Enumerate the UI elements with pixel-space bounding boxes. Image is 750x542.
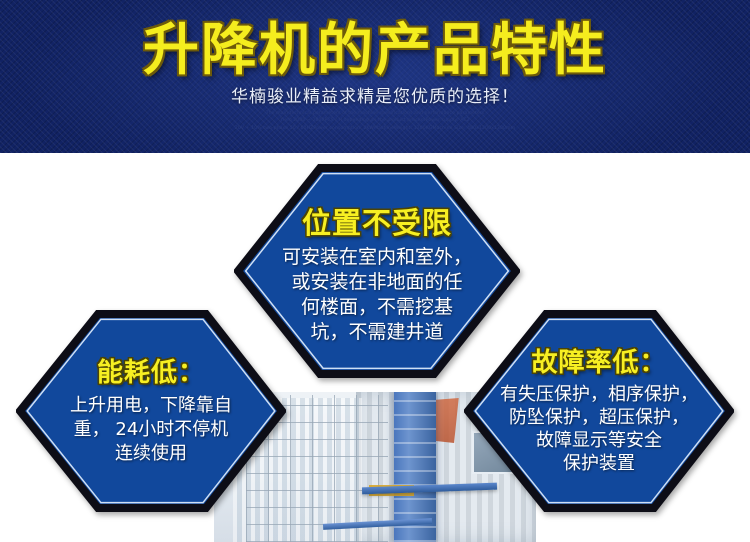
- hexagon-line: 防坠保护，超压保护，: [500, 406, 698, 429]
- feature-hexagon-failure[interactable]: 故障率低： 有失压保护，相序保护， 防坠保护，超压保护， 故障显示等安全 保护装…: [464, 310, 734, 512]
- hexagon-body-failure: 有失压保护，相序保护， 防坠保护，超压保护， 故障显示等安全 保护装置: [500, 383, 698, 475]
- hexagon-body-position: 可安装在室内和室外， 或安装在非地面的任 何楼面，不需挖基 坑，不需建井道: [282, 245, 472, 345]
- hexagon-line: 故障显示等安全: [500, 429, 698, 452]
- header-fineprint: The main technical parameters of the mac…: [0, 110, 750, 132]
- hexagon-line: 或安装在非地面的任: [282, 270, 472, 295]
- fineprint-line-3: 20V + 10% two-phase 50 / 60HZPower consu…: [0, 125, 750, 132]
- page-title: 升降机的产品特性: [0, 20, 750, 82]
- hexagon-line: 上升用电，下降靠自: [70, 394, 232, 418]
- hexagon-line: 有失压保护，相序保护，: [500, 383, 698, 406]
- hexagon-content-failure: 故障率低： 有失压保护，相序保护， 防坠保护，超压保护， 故障显示等安全 保护装…: [464, 310, 734, 512]
- hexagon-title-energy: 能耗低：: [97, 357, 205, 390]
- promo-banner: 升降机的产品特性 华楠骏业精益求精是您优质的选择！ The main techn…: [0, 0, 750, 542]
- header-band: 升降机的产品特性 华楠骏业精益求精是您优质的选择！ The main techn…: [0, 0, 750, 153]
- hexagon-title-failure: 故障率低：: [531, 347, 666, 380]
- hexagon-body-energy: 上升用电，下降靠自 重， 24小时不停机 连续使用: [70, 394, 232, 466]
- hexagon-line: 重， 24小时不停机: [70, 418, 232, 442]
- hexagon-title-position: 位置不受限: [302, 205, 452, 241]
- fineprint-line-1: The main technical parameters of the mac…: [0, 110, 750, 117]
- hexagon-line: 保护装置: [500, 452, 698, 475]
- hexagon-line: 可安装在室内和室外，: [282, 245, 472, 270]
- hexagon-line: 连续使用: [70, 442, 232, 466]
- fineprint-line-2: Yield 2000 ~ 2800PCS / H depending on th…: [0, 117, 750, 124]
- hexagon-line: 何楼面，不需挖基: [282, 295, 472, 320]
- page-subtitle: 华楠骏业精益求精是您优质的选择！: [0, 86, 750, 108]
- feature-hexagon-energy[interactable]: 能耗低： 上升用电，下降靠自 重， 24小时不停机 连续使用: [16, 310, 286, 512]
- hexagon-content-energy: 能耗低： 上升用电，下降靠自 重， 24小时不停机 连续使用: [16, 310, 286, 512]
- hexagon-line: 坑，不需建井道: [282, 320, 472, 345]
